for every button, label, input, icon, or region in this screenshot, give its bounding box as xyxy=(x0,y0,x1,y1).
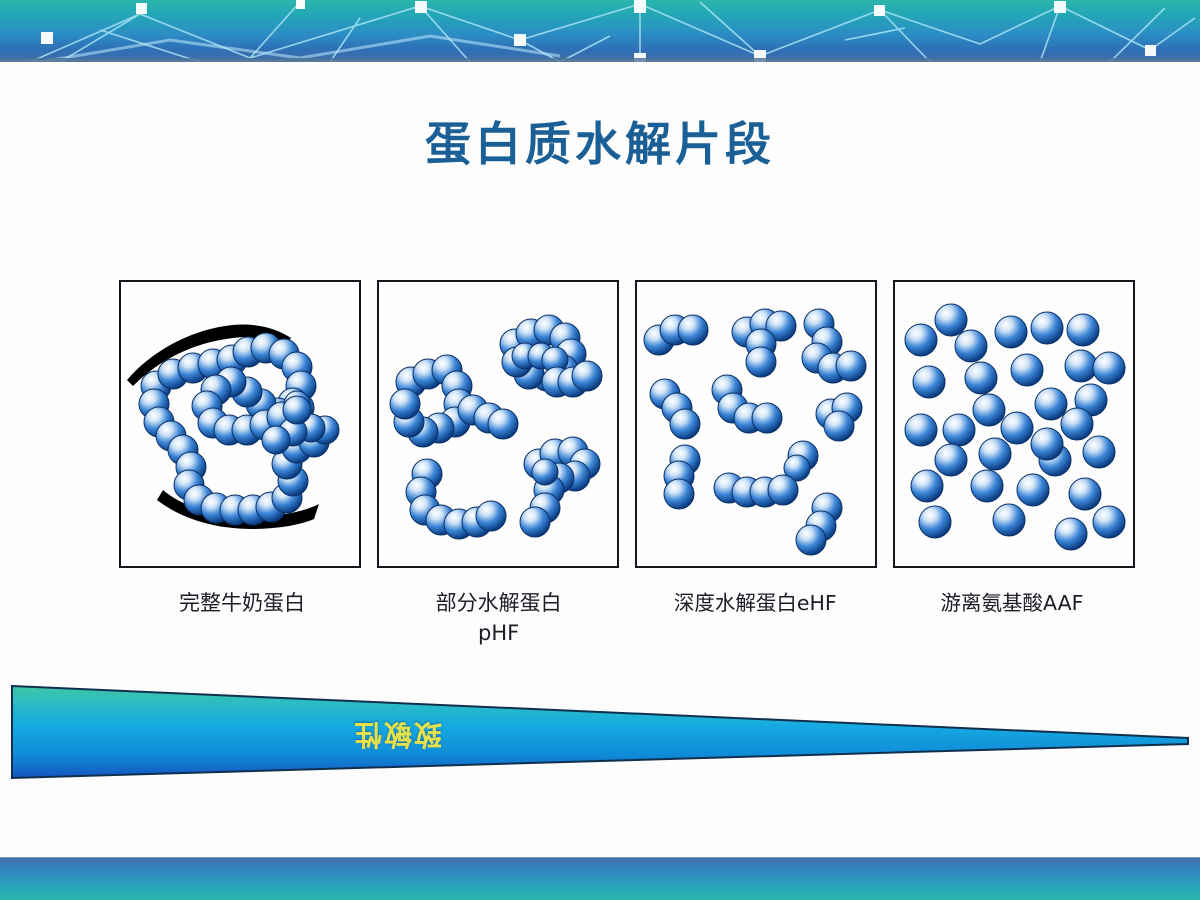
caption-line-1: 部分水解蛋白 xyxy=(376,588,622,618)
caption-extensively-hydrolysed-protein: 深度水解蛋白eHF xyxy=(632,588,878,658)
caption-line-1: 深度水解蛋白eHF xyxy=(632,588,878,618)
panel-extensively-hydrolysed-protein[interactable] xyxy=(635,280,877,568)
panel-partially-hydrolysed-protein[interactable] xyxy=(377,280,619,568)
caption-intact-milk-protein: 完整牛奶蛋白 xyxy=(119,588,365,658)
wedge-shape xyxy=(8,676,1192,786)
caption-line-1: 完整牛奶蛋白 xyxy=(119,588,365,618)
caption-line-1: 游离氨基酸AAF xyxy=(889,588,1135,618)
panel-caption-row: 完整牛奶蛋白 部分水解蛋白 pHF 深度水解蛋白eHF 游离氨基酸AAF xyxy=(119,588,1135,658)
caption-line-2: pHF xyxy=(376,618,622,648)
slide-canvas: 蛋白质水解片段 xyxy=(0,0,1200,900)
aaf-spheres-graphic xyxy=(895,282,1133,566)
header-banner xyxy=(0,0,1200,62)
network-pattern-graphic xyxy=(0,0,1200,62)
allergenicity-label: 致敏性 xyxy=(352,716,442,756)
caption-partially-hydrolysed-protein: 部分水解蛋白 pHF xyxy=(376,588,622,658)
protein-panel-row xyxy=(119,280,1135,568)
intact-protein-graphic xyxy=(121,282,359,566)
caption-free-amino-acids: 游离氨基酸AAF xyxy=(889,588,1135,658)
panel-intact-milk-protein[interactable] xyxy=(119,280,361,568)
panel-free-amino-acids[interactable] xyxy=(893,280,1135,568)
allergenicity-gradient-arrow xyxy=(8,676,1192,786)
page-title: 蛋白质水解片段 xyxy=(0,108,1200,174)
footer-banner xyxy=(0,858,1200,900)
ehf-fragments-graphic xyxy=(637,282,875,566)
header-divider-rule xyxy=(0,58,1200,62)
phf-fragments-graphic xyxy=(379,282,617,566)
